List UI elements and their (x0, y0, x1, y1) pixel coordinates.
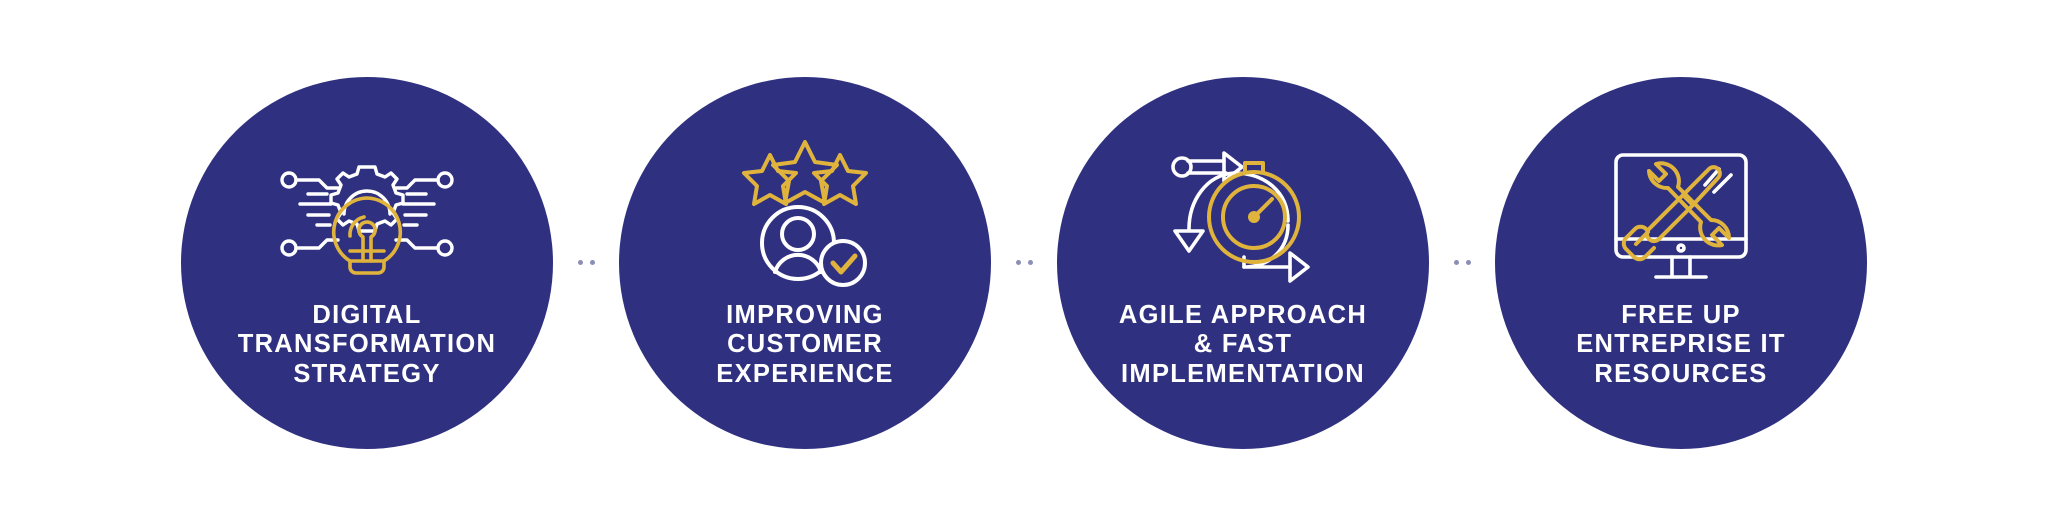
circle-item-3[interactable]: AGILE APPROACH & FAST IMPLEMENTATION (1043, 63, 1443, 463)
circle-background-2: IMPROVING CUSTOMER EXPERIENCE (619, 77, 991, 449)
label-line: AGILE APPROACH (1093, 301, 1393, 331)
label-line: STRATEGY (217, 360, 517, 390)
circle-label-2: IMPROVING CUSTOMER EXPERIENCE (655, 301, 955, 390)
monitor-wrench-screwdriver-icon (1586, 139, 1776, 289)
circle-item-4[interactable]: FREE UP ENTREPRISE IT RESOURCES (1481, 63, 1881, 463)
agile-loop-stopwatch-icon (1148, 139, 1338, 289)
separator-dot (1466, 260, 1471, 265)
separator-dot (590, 260, 595, 265)
label-line: EXPERIENCE (655, 360, 955, 390)
separator-dot (1454, 260, 1459, 265)
circles-row: DIGITAL TRANSFORMATION STRATEGY (167, 63, 1881, 463)
label-line: & FAST (1093, 330, 1393, 360)
circle-label-4: FREE UP ENTREPRISE IT RESOURCES (1531, 301, 1831, 390)
circle-label-3: AGILE APPROACH & FAST IMPLEMENTATION (1093, 301, 1393, 390)
circle-item-1[interactable]: DIGITAL TRANSFORMATION STRATEGY (167, 63, 567, 463)
label-line: CUSTOMER (655, 330, 955, 360)
three-stars-user-check-icon (710, 139, 900, 289)
separator-dot (578, 260, 583, 265)
gear-lightbulb-circuit-icon (272, 139, 462, 289)
circle-label-1: DIGITAL TRANSFORMATION STRATEGY (217, 301, 517, 390)
separator-dots-2 (1005, 259, 1043, 267)
circle-background-4: FREE UP ENTREPRISE IT RESOURCES (1495, 77, 1867, 449)
circle-item-2[interactable]: IMPROVING CUSTOMER EXPERIENCE (605, 63, 1005, 463)
label-line: TRANSFORMATION (217, 330, 517, 360)
circle-background-1: DIGITAL TRANSFORMATION STRATEGY (181, 77, 553, 449)
separator-dot (1028, 260, 1033, 265)
label-line: FREE UP (1531, 301, 1831, 331)
separator-dots-3 (1443, 259, 1481, 267)
separator-dot (1016, 260, 1021, 265)
label-line: IMPROVING (655, 301, 955, 331)
infographic-banner: DIGITAL TRANSFORMATION STRATEGY (0, 0, 2048, 525)
label-line: IMPLEMENTATION (1093, 360, 1393, 390)
label-line: RESOURCES (1531, 360, 1831, 390)
circle-background-3: AGILE APPROACH & FAST IMPLEMENTATION (1057, 77, 1429, 449)
separator-dots-1 (567, 259, 605, 267)
label-line: DIGITAL (217, 301, 517, 331)
label-line: ENTREPRISE IT (1531, 330, 1831, 360)
